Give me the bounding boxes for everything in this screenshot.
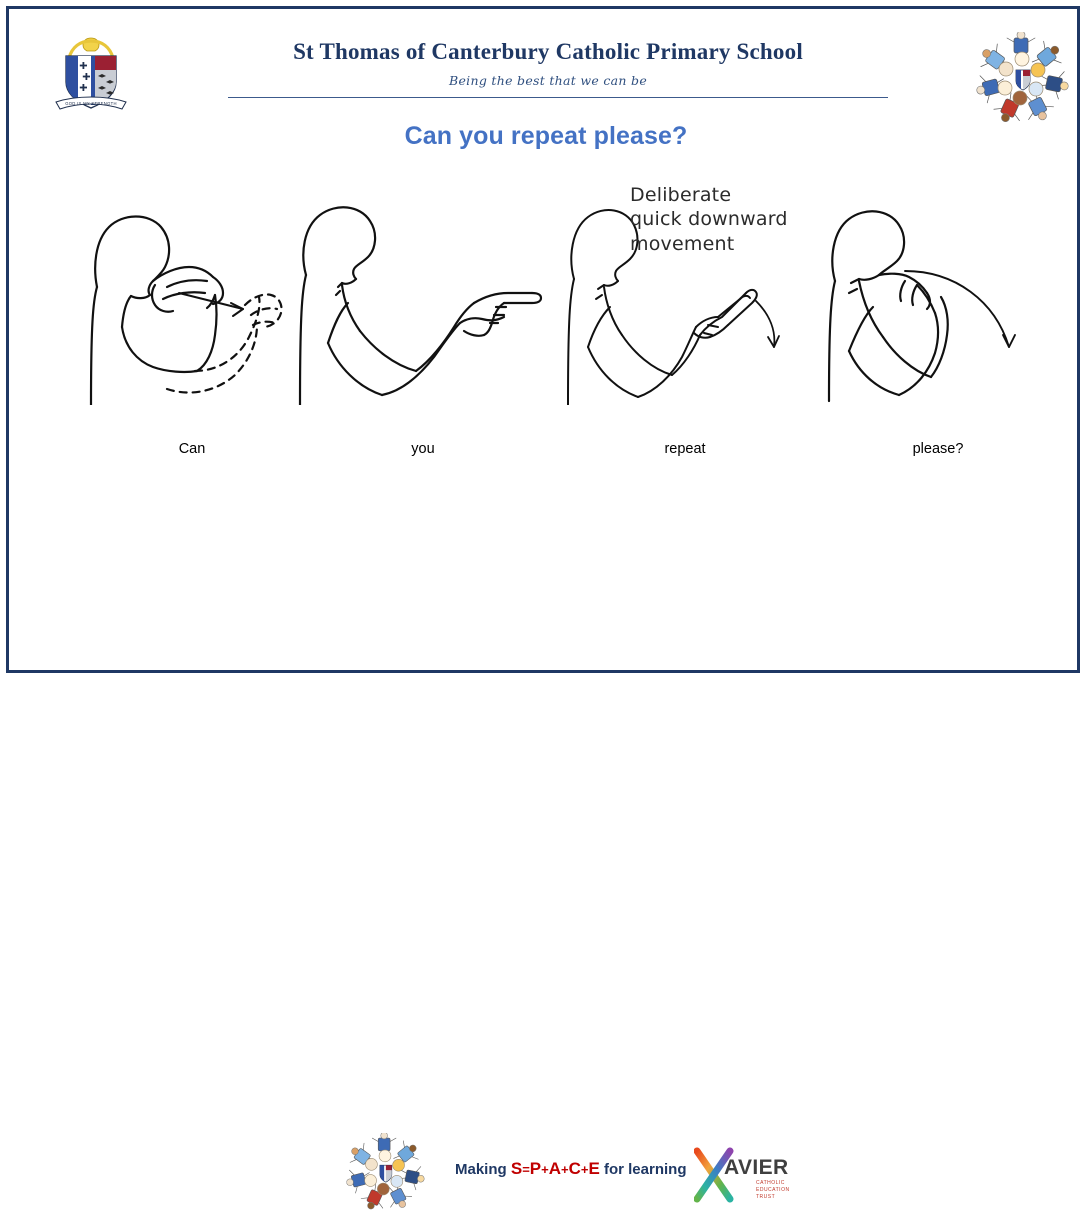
header-text-block: St Thomas of Canterbury Catholic Primary…: [180, 38, 916, 88]
sign-annotation: Deliberate quick downward movement: [630, 183, 840, 256]
header-divider: [228, 97, 888, 98]
sign-label: please?: [813, 441, 1063, 457]
children-circle-logo-icon-footer: [344, 1133, 426, 1211]
sign-language-can-icon: [67, 175, 317, 405]
slide-header: GOD IS MY STRENGTH: [0, 0, 1092, 112]
sign-item-can: Can: [67, 175, 317, 475]
sign-item-you: you: [298, 175, 548, 475]
xavier-logo: AVIER CATHOLIC EDUCATION TRUST: [694, 1147, 792, 1205]
sign-language-you-icon: [298, 175, 548, 405]
motto-letter-c: C: [569, 1159, 581, 1178]
sign-label: Can: [67, 441, 317, 457]
motto-space-acronym: S=P+A+C+E: [511, 1161, 600, 1178]
sign-label: you: [298, 441, 548, 457]
sign-row: Can: [0, 175, 1092, 475]
children-circle-logo-icon: [974, 32, 1070, 124]
xavier-subtitle-2: EDUCATION: [756, 1187, 790, 1193]
slide-canvas: GOD IS MY STRENGTH: [0, 0, 1092, 685]
school-tagline: Being the best that we can be: [180, 73, 916, 88]
footer-motto: Making S=P+A+C+E for learning: [455, 1159, 687, 1179]
motto-suffix: for learning: [600, 1161, 687, 1178]
sign-item-please: please?: [813, 175, 1063, 475]
motto-prefix: Making: [455, 1161, 511, 1178]
crest-motto-text: GOD IS MY STRENGTH: [65, 101, 117, 106]
page-title: Can you repeat please?: [0, 122, 1092, 151]
xavier-wordmark: AVIER: [724, 1156, 789, 1179]
sign-item-repeat: Deliberate quick downward movement repea…: [560, 175, 810, 475]
motto-letter-a: A: [549, 1159, 561, 1178]
slide-footer: Making S=P+A+C+E for learning: [0, 565, 1092, 655]
sign-label: repeat: [560, 441, 810, 457]
xavier-subtitle-3: TRUST: [756, 1194, 775, 1200]
school-name: St Thomas of Canterbury Catholic Primary…: [180, 38, 916, 66]
motto-letter-p: P: [530, 1159, 541, 1178]
motto-letter-s: S: [511, 1159, 522, 1178]
sign-language-please-icon: [813, 175, 1063, 405]
school-crest-icon: GOD IS MY STRENGTH: [48, 32, 134, 116]
xavier-subtitle-1: CATHOLIC: [756, 1180, 785, 1186]
motto-letter-e: E: [588, 1159, 599, 1178]
